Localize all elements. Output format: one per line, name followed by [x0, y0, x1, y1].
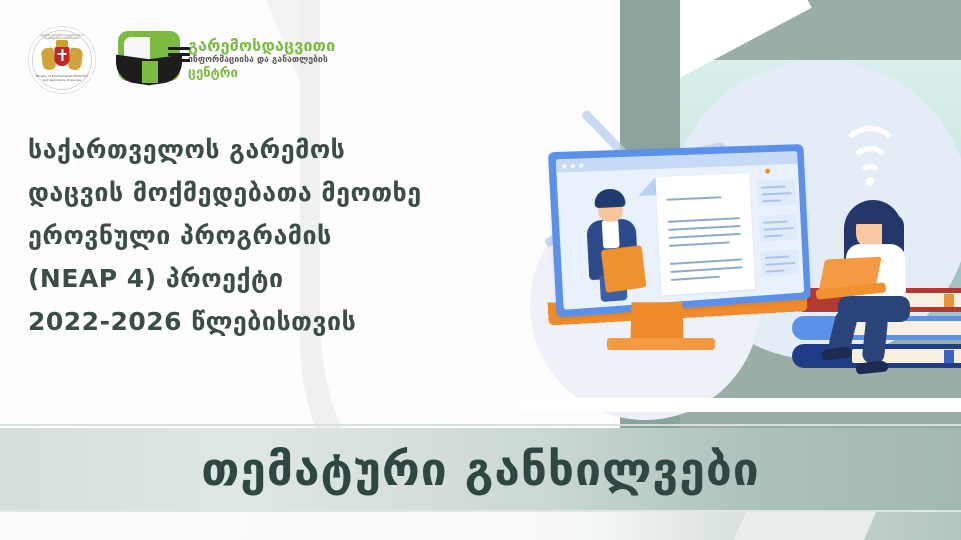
participant-folder-icon	[601, 245, 647, 293]
window-dot-icon	[571, 164, 575, 168]
title-line-2: დაცვის მოქმედებათა მეოთხე	[28, 171, 498, 214]
card-text-line	[765, 256, 789, 259]
notification-dot-icon	[765, 169, 770, 174]
video-call-participant-icon	[580, 188, 649, 303]
participant-shirt	[602, 219, 620, 248]
card-text-line	[762, 199, 781, 202]
seal-crown-icon	[56, 40, 68, 47]
doc-text-line	[670, 258, 742, 264]
doc-text-line	[671, 276, 720, 281]
center-logo-line1: გარემოსდაცვითი	[188, 38, 335, 55]
title-line-1: საქართველოს გარემოს	[28, 128, 498, 171]
sidebar-card	[759, 214, 798, 241]
center-logo-line2: ინფორმაციისა და განათლების	[188, 55, 335, 66]
doc-text-line	[668, 225, 740, 231]
card-text-line	[764, 234, 783, 237]
monitor-screen	[548, 144, 811, 317]
window-dot-icon	[562, 164, 566, 168]
banner-footer-wedge	[734, 512, 876, 540]
doc-text-line	[669, 241, 730, 246]
seal-cross-icon	[58, 49, 67, 61]
document-fold-icon	[637, 177, 656, 196]
title-line-4: (NEAP 4) პროექტი	[28, 257, 498, 300]
logo-line	[168, 47, 190, 50]
card-text-line	[763, 221, 788, 224]
banner-rule-top	[0, 424, 961, 426]
monitor-stand	[607, 338, 715, 350]
seal-caption: Ministry of Environmental Protection and…	[35, 75, 89, 83]
wifi-icon	[838, 142, 902, 188]
woman-with-laptop-icon	[820, 200, 955, 360]
slide-root: საქართველოს გარემოს დაცვისა და სოფლის მე…	[0, 0, 961, 540]
title-line-5: 2022-2026 წლებისთვის	[28, 300, 498, 343]
logo-row: საქართველოს გარემოს დაცვისა და სოფლის მე…	[28, 26, 335, 94]
desktop-monitor-icon	[555, 148, 825, 378]
logo-line	[168, 53, 190, 56]
woman-shoe	[821, 346, 852, 361]
monitor-neck	[630, 302, 683, 340]
logo-line	[168, 59, 190, 62]
logo-book-spine	[142, 61, 158, 83]
illustration-ground	[520, 398, 961, 412]
center-logo-text: გარემოსდაცვითი ინფორმაციისა და განათლები…	[188, 38, 335, 81]
wifi-dot	[866, 177, 875, 186]
logo-lines	[168, 47, 190, 65]
card-text-line	[765, 262, 795, 266]
sidebar-card	[761, 249, 800, 277]
bottom-banner: თემატური განხილვები	[0, 424, 961, 516]
participant-hair	[594, 188, 626, 208]
card-text-line	[761, 186, 786, 189]
card-text-line	[766, 269, 785, 272]
card-text-line	[762, 192, 792, 195]
doc-text-line	[669, 233, 741, 239]
card-text-line	[763, 227, 793, 231]
center-logo-line3: ცენტრი	[188, 67, 335, 82]
online-meeting-illustration	[520, 120, 961, 430]
doc-text-line	[670, 266, 742, 273]
woman-leg-lower	[861, 313, 888, 365]
environmental-center-logo: გარემოსდაცვითი ინფორმაციისა და განათლები…	[118, 31, 335, 89]
banner-body: თემატური განხილვები	[0, 428, 961, 510]
window-dot-icon	[579, 163, 583, 167]
sidebar-card	[757, 179, 796, 206]
open-book-logo-icon	[118, 31, 180, 89]
browser-content	[556, 164, 804, 310]
doc-text-line	[667, 196, 722, 200]
title-line-3: ეროვნული პროგრამის	[28, 214, 498, 257]
georgia-coat-of-arms-seal-icon: საქართველოს გარემოს დაცვისა და სოფლის მე…	[28, 26, 96, 94]
monitor-screen-content	[556, 151, 804, 310]
banner-title: თემატური განხილვები	[201, 442, 759, 496]
doc-text-line	[668, 217, 740, 223]
page-title: საქართველოს გარემოს დაცვის მოქმედებათა მ…	[28, 128, 498, 343]
document-page-icon	[655, 173, 755, 295]
